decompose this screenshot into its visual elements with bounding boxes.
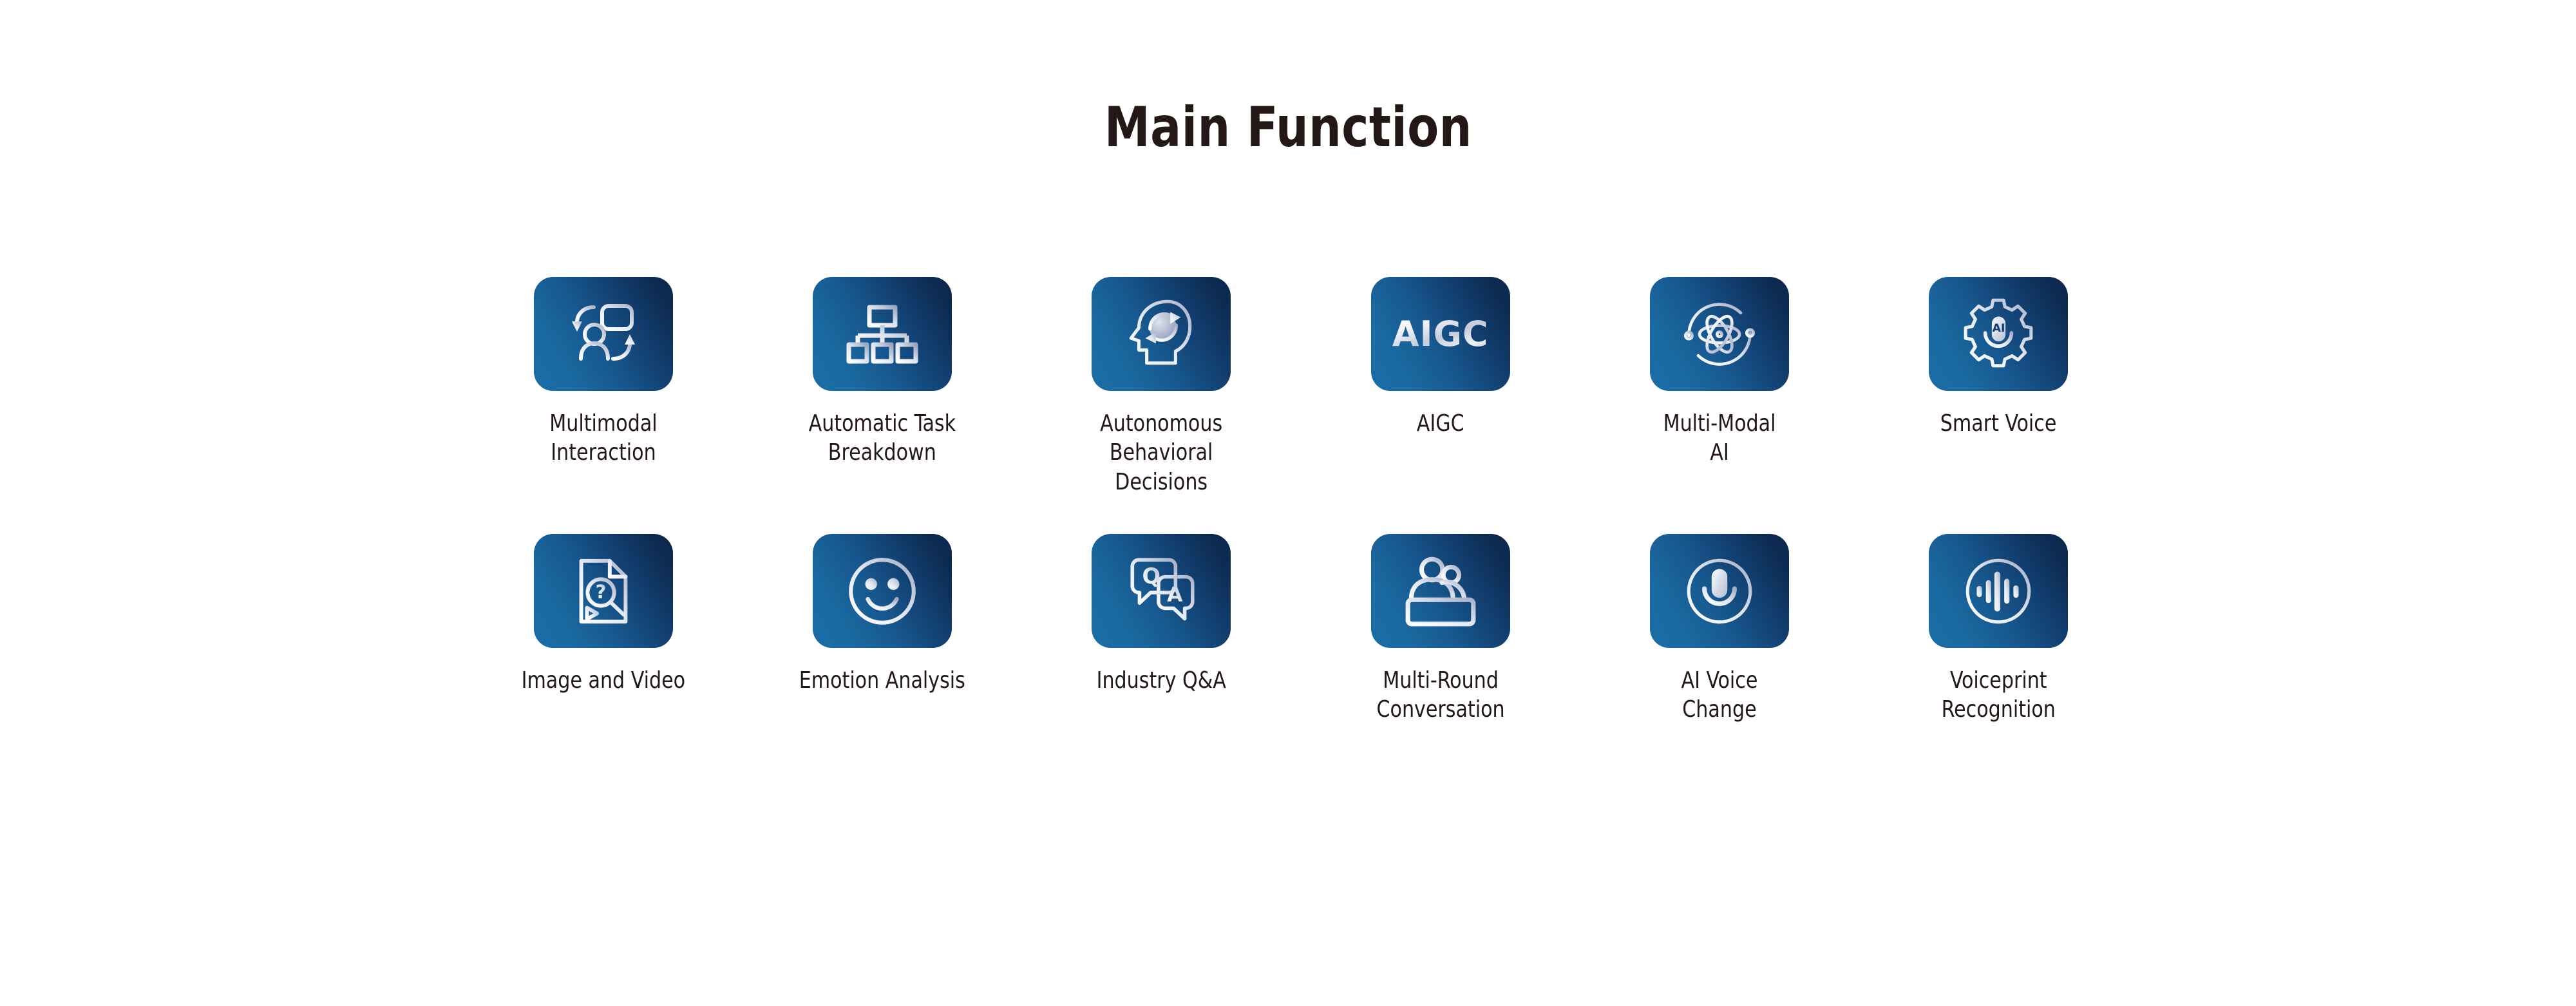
feature-card-voiceprint-recognition[interactable]: Voiceprint Recognition [1859,534,2138,725]
feature-card-multi-modal-ai[interactable]: Multi-Modal AI [1580,277,1859,468]
multimodal-interaction-icon [565,296,642,373]
gear-microphone-ai-icon: AI [1959,295,2038,374]
page-title-wrapper: Main Function [0,100,2576,155]
feature-label: AIGC [1417,409,1464,438]
feature-card-aigc[interactable]: AIGC AIGC [1301,277,1580,438]
feature-card-emotion-analysis[interactable]: Emotion Analysis [743,534,1021,695]
feature-label: Image and Video [521,666,685,695]
feature-row-1: Multimodal Interaction [464,277,2138,497]
feature-tile[interactable]: ? [534,534,673,648]
feature-tile[interactable]: AIGC [1371,277,1510,391]
feature-card-image-and-video[interactable]: ? Image and Video [464,534,743,695]
main-function-page: Main Function [0,0,2576,1006]
feature-card-autonomous-behavioral-decisions[interactable]: Autonomous Behavioral Decisions [1022,277,1301,497]
feature-label: Smart Voice [1940,409,2057,438]
feature-label: Automatic Task Breakdown [809,409,956,468]
document-magnifier-play-icon: ? [565,553,641,629]
feature-tile[interactable] [1929,534,2068,648]
feature-tile[interactable] [1092,277,1231,391]
svg-text:AI: AI [1993,321,2005,334]
svg-text:?: ? [595,580,606,602]
feature-row-2: ? Image and Video [464,534,2138,725]
feature-label: Voiceprint Recognition [1942,666,2056,725]
smiley-face-icon [843,552,922,631]
feature-label: Emotion Analysis [799,666,965,695]
feature-tile[interactable] [813,277,952,391]
task-breakdown-hierarchy-icon [844,296,921,373]
qa-speech-bubbles-icon: Q A [1122,552,1200,631]
aigc-text-icon: AIGC [1392,317,1489,352]
feature-label: Multi-Modal AI [1663,409,1776,468]
feature-tile[interactable]: Q A [1092,534,1231,648]
feature-tile[interactable] [813,534,952,648]
feature-label: AI Voice Change [1681,666,1758,725]
waveform-circle-icon [1959,552,2038,631]
feature-card-multi-round-conversation[interactable]: Multi-Round Conversation [1301,534,1580,725]
page-title: Main Function [1104,100,1472,155]
feature-tile[interactable] [534,277,673,391]
feature-label: Autonomous Behavioral Decisions [1100,409,1222,497]
feature-tile[interactable]: AI [1929,277,2068,391]
feature-card-smart-voice[interactable]: AI Smart Voice [1859,277,2138,438]
two-people-desk-icon [1401,552,1480,631]
q-letter: Q [1142,563,1161,588]
feature-tile[interactable] [1650,534,1789,648]
feature-grid: Multimodal Interaction [464,277,2138,725]
head-refresh-brain-icon [1122,295,1200,374]
feature-label: Multimodal Interaction [549,409,657,468]
feature-label: Multi-Round Conversation [1376,666,1504,725]
feature-card-ai-voice-change[interactable]: AI Voice Change [1580,534,1859,725]
microphone-circle-icon [1680,552,1759,631]
feature-label: Industry Q&A [1097,666,1226,695]
feature-card-automatic-task-breakdown[interactable]: Automatic Task Breakdown [743,277,1021,468]
feature-card-multimodal-interaction[interactable]: Multimodal Interaction [464,277,743,468]
feature-tile[interactable] [1650,277,1789,391]
feature-tile[interactable] [1371,534,1510,648]
atom-orbit-icon [1680,294,1759,374]
feature-card-industry-qa[interactable]: Q A Industry Q&A [1022,534,1301,695]
a-letter: A [1167,583,1183,606]
